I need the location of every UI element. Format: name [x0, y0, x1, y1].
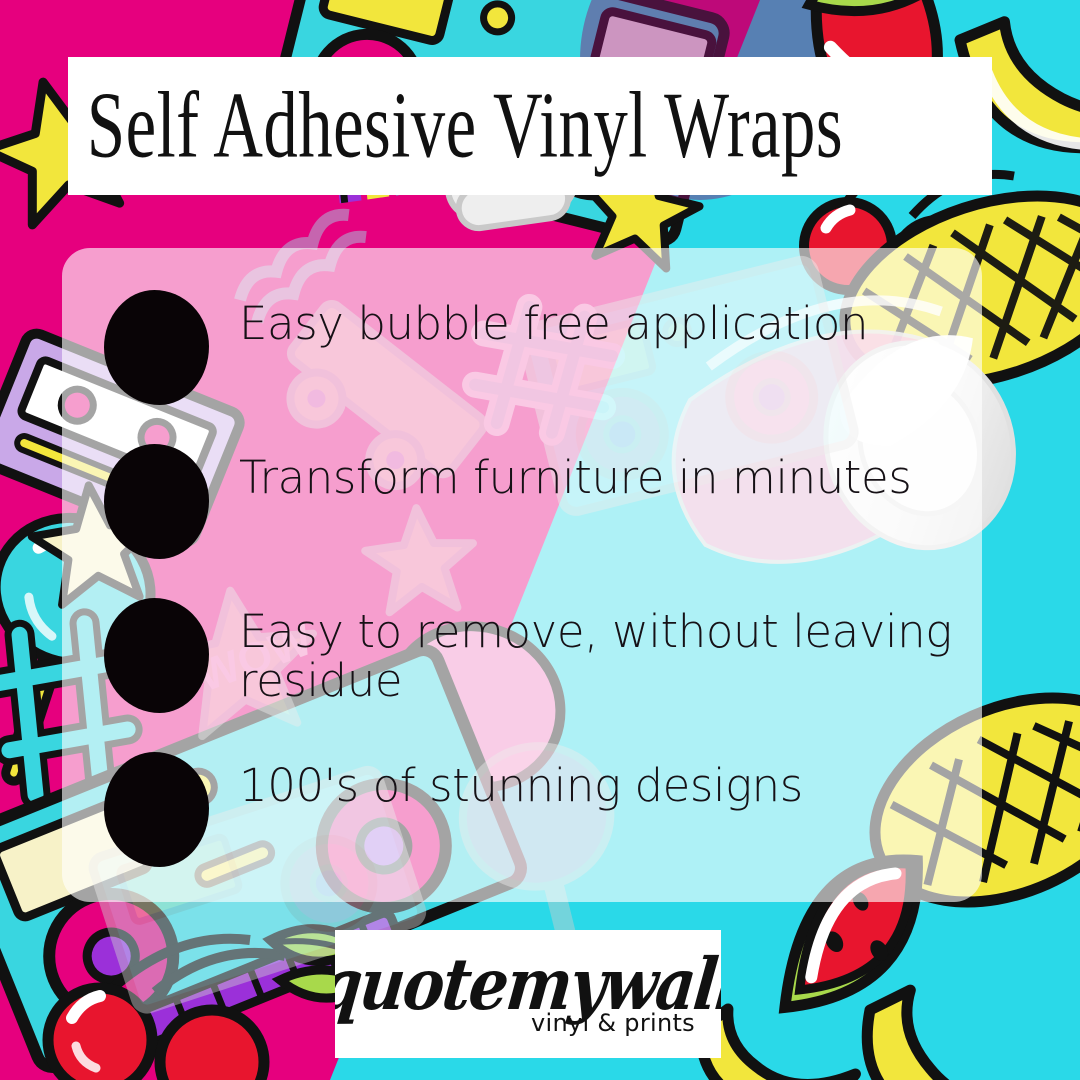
feature-label: Transform furniture in minutes	[239, 440, 911, 503]
filled-circle-icon	[104, 290, 209, 405]
title-banner: Self Adhesive Vinyl Wraps	[68, 57, 992, 195]
feature-list: Easy bubble free application Transform f…	[62, 248, 982, 902]
list-item: Transform furniture in minutes	[104, 440, 952, 572]
feature-label: Easy to remove, without leaving residue	[239, 594, 952, 705]
feature-label: Easy bubble free application	[239, 286, 868, 349]
filled-circle-icon	[104, 598, 209, 713]
poster-canvas: WOW Self Adhesive Vinyl Wraps	[0, 0, 1080, 1080]
list-item: Easy to remove, without leaving residue	[104, 594, 952, 726]
logo-wordmark: quotemywall	[335, 953, 721, 1017]
features-panel: Easy bubble free application Transform f…	[62, 248, 982, 902]
filled-circle-icon	[104, 752, 209, 867]
page-title: Self Adhesive Vinyl Wraps	[68, 79, 843, 173]
list-item: 100's of stunning designs	[104, 748, 952, 880]
list-item: Easy bubble free application	[104, 286, 952, 418]
feature-label: 100's of stunning designs	[239, 748, 803, 811]
filled-circle-icon	[104, 444, 209, 559]
brand-logo: quotemywall vinyl & prints	[335, 930, 721, 1058]
